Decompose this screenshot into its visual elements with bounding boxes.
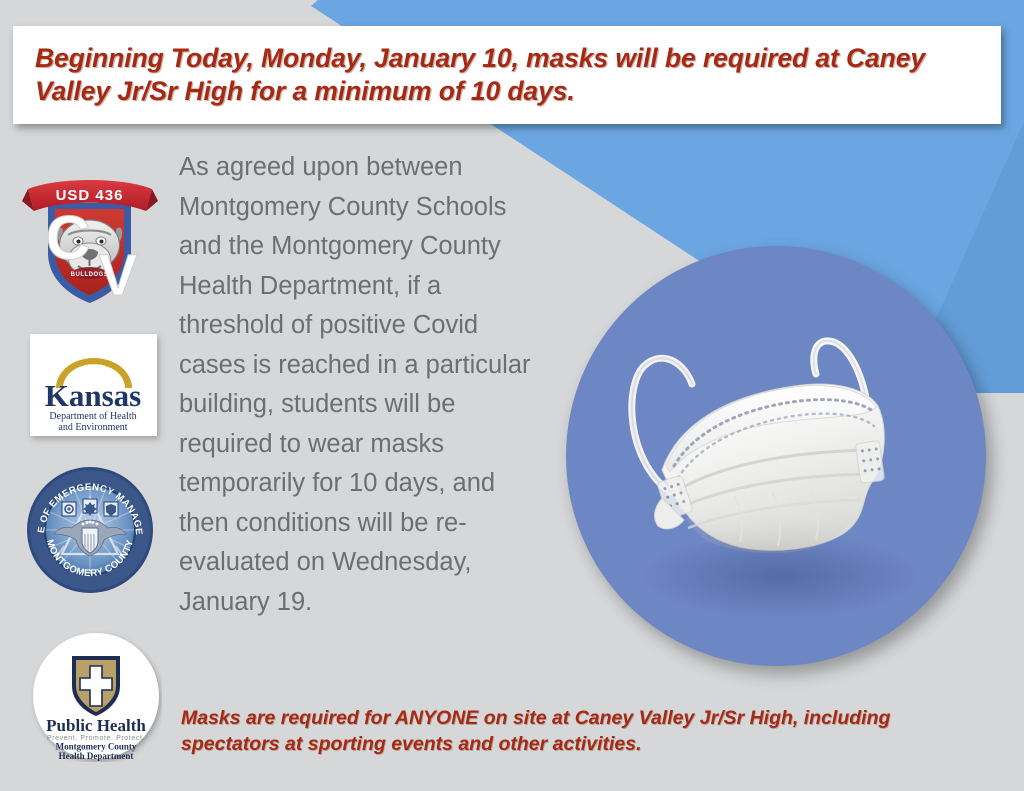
body-paragraph: As agreed upon between Montgomery County… — [179, 148, 551, 622]
montgomery-county-office-emergency-management-seal: OFFICE OF EMERGENCY MANAGEMENT MONTGOMER… — [26, 466, 154, 594]
kansas-department-health-environment-logo: AD ASTRA PER ASPERA Kansas Department of… — [30, 334, 157, 436]
public-health-title: Public Health — [46, 716, 146, 735]
kdhe-line-2: and Environment — [58, 422, 127, 433]
public-health-line-1: Montgomery County — [56, 742, 137, 752]
montgomery-county-public-health-logo: Public Health Prevent. Promote. Protect.… — [30, 630, 162, 762]
public-health-line-2: Health Department — [59, 751, 134, 761]
kdhe-line-1: Department of Health — [49, 411, 136, 422]
surgical-face-mask-photo — [566, 246, 986, 666]
headline-text: Beginning Today, Monday, January 10, mas… — [35, 42, 990, 108]
monogram-v: V — [99, 243, 138, 308]
usd-436-bulldog-shield-logo: USD 436 — [18, 167, 161, 312]
poster-canvas: Beginning Today, Monday, January 10, mas… — [0, 0, 1024, 791]
monogram-c: C — [46, 204, 91, 273]
red-emphasis-note: Masks are required for ANYONE on site at… — [181, 706, 991, 757]
usd-436-ribbon-text: USD 436 — [56, 187, 124, 204]
mask-photo-circle — [566, 246, 986, 666]
headline-banner: Beginning Today, Monday, January 10, mas… — [13, 26, 1001, 124]
kdhe-wordmark: Kansas — [45, 378, 141, 413]
